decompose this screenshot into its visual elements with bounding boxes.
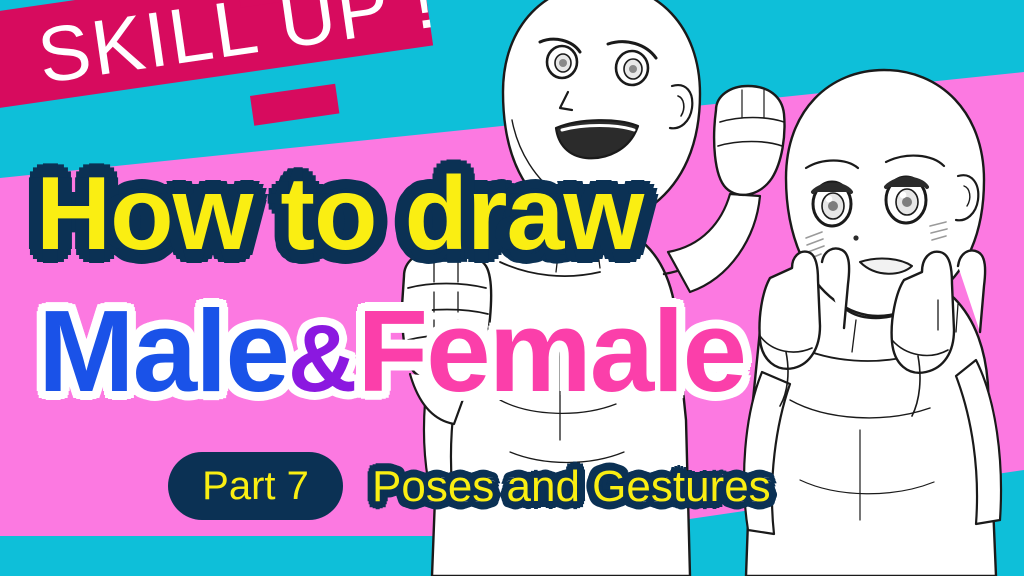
headline-word-female: Female <box>357 286 745 416</box>
headline-line-1: How to draw <box>36 158 643 270</box>
thumbnail-canvas: SKILL UP ! <box>0 0 1024 576</box>
subtitle-label: Poses and Gestures <box>372 460 771 514</box>
male-raised-fist-icon <box>714 86 784 195</box>
headline-word-male: Male <box>38 286 288 416</box>
headline-word-ampersand: & <box>288 305 357 412</box>
headline-line-2: Male&Female <box>38 288 745 422</box>
part-badge: Part 7 <box>168 452 343 520</box>
part-badge-label: Part 7 <box>202 466 309 506</box>
